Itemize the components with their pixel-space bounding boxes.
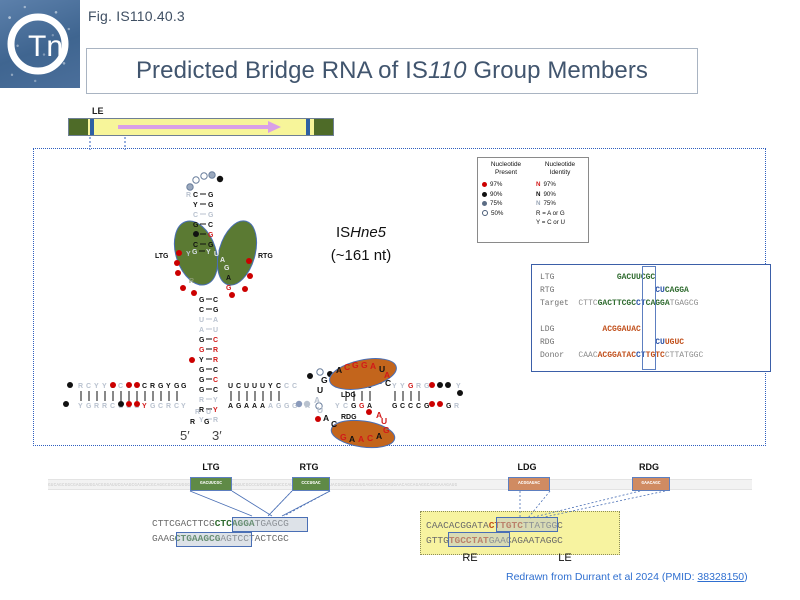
alignment-row-label [540, 312, 569, 321]
legend-identity-r-label: R = A or G [536, 210, 565, 217]
page-title-italic: 110 [428, 57, 467, 84]
legend-dot-50-icon [482, 210, 488, 216]
page-title-suffix: Group Members [467, 57, 648, 84]
alignment-seq-segment: CTTC [578, 299, 597, 308]
legend-identity-97-pct: 97% [543, 181, 555, 188]
alignment-seq-segment: TGTC [646, 351, 665, 360]
alignment-seq-segment: CT [636, 299, 646, 308]
legend-identity-75-pct: 75% [543, 200, 555, 207]
alignment-seq-segment: ACGGAUAC [602, 325, 640, 334]
duplex-seq-segment: GAAG [152, 533, 175, 544]
legend-identity-y-label: Y = C or U [536, 219, 565, 226]
alignment-box: LTG GACUUCGCRTG CUCAGGATarget CTTCGACTTC… [531, 264, 771, 372]
genome-site-label-ltg: LTG [180, 462, 242, 472]
legend-present-97-label: 97% [490, 181, 502, 188]
target-top-core-box [232, 517, 308, 532]
legend-present-90-label: 90% [490, 191, 502, 198]
legend-column-identity: Nucleotide Identity N97% N90% N75% R = A… [536, 161, 584, 228]
alignment-seq-segment: GACUUCGC [617, 273, 655, 282]
alignment-row-label: RDG [540, 338, 574, 347]
legend-present-header-1: Nucleotide [482, 161, 530, 169]
rna-element-name: ISHne5 (~161 nt) [296, 222, 426, 267]
alignment-seq-segment: CAGGA [665, 286, 689, 295]
alignment-row-ltg: LTG GACUUCGC [540, 271, 770, 284]
site-connectors [190, 491, 330, 516]
alignment-seq-segment: CTTATGGC [665, 351, 703, 360]
figure-label: Fig. IS110.40.3 [88, 8, 185, 24]
legend-identity-90-pct: 90% [543, 191, 555, 198]
alignment-row-label: Target [540, 299, 574, 308]
donor-re-label: RE [440, 552, 500, 564]
pmid-link[interactable]: 38328150 [697, 571, 744, 583]
legend-row-identity-75: N75% [536, 199, 584, 209]
alignment-seq-segment: CT [636, 351, 646, 360]
alignment-row-rdg: RDG CUUGUC [540, 336, 770, 349]
rna-length-label: (~161 nt) [296, 245, 426, 268]
legend-row-present-50: 50% [482, 209, 530, 219]
alignment-row-target: Target CTTCGACTTCGCCTCAGGATGAGCG [540, 297, 770, 310]
alignment-row-label: Donor [540, 351, 574, 360]
alignment-row-donor: Donor CAACACGGATACCTTGTCCTTATGGC [540, 349, 770, 362]
genome-site-label-rdg: RDG [620, 462, 678, 472]
donor-top-core-box [496, 517, 558, 532]
legend-present-50-label: 50% [491, 210, 503, 217]
legend-row-identity-r: R = A or G [536, 209, 584, 219]
legend-identity-97-letter: N [536, 181, 540, 188]
genome-site-rdg[interactable]: GAACAGC [632, 477, 670, 491]
alignment-seq-segment: CU [655, 338, 665, 347]
target-bottom-core-box [176, 532, 252, 547]
legend: Nucleotide Present 97% 90% 75% 50% Nucle… [477, 157, 589, 243]
legend-row-identity-90: N90% [536, 190, 584, 200]
page-title: Predicted Bridge RNA of IS110 Group Memb… [86, 48, 698, 94]
legend-dot-90-icon [482, 192, 487, 197]
legend-row-identity-y: Y = C or U [536, 218, 584, 228]
alignment-row-pad [574, 338, 656, 347]
alignment-seq-segment: CU [655, 286, 665, 295]
genome-site-ltg[interactable]: GACUUCGC [190, 477, 232, 491]
alignment-row-pad [574, 325, 603, 334]
genome-site-rtg[interactable]: CCCUGAC [292, 477, 330, 491]
legend-dot-75-icon [482, 201, 487, 206]
legend-identity-75-letter: N [536, 200, 540, 207]
duplex-seq-segment: CTTCGACTTCG [152, 518, 215, 529]
citation-footer: Redrawn from Durrant et al 2024 (PMID: 3… [506, 571, 748, 583]
alignment-seq-segment: CAGGA [646, 299, 670, 308]
alignment-row-ldg: LDG ACGGAUAC [540, 323, 770, 336]
duplex-seq-segment: CAACACGGATA [426, 520, 489, 531]
element-bar-orf-arrow [68, 118, 334, 136]
citation-text-end: ) [744, 571, 748, 583]
legend-row-present-97: 97% [482, 180, 530, 190]
alignment-row-label: RTG [540, 286, 574, 295]
rna-name-italic: Hne5 [350, 224, 386, 241]
alignment-row-spacer [540, 310, 770, 323]
legend-present-75-label: 75% [490, 200, 502, 207]
alignment-row-rtg: RTG CUCAGGA [540, 284, 770, 297]
element-bar-le-label: LE [92, 106, 104, 116]
ctn-logo-mark: Tn [0, 0, 80, 88]
genome-site-label-ldg: LDG [496, 462, 558, 472]
alignment-seq-segment: CAAC [578, 351, 597, 360]
alignment-seq-segment: ACGGATAC [598, 351, 636, 360]
genome-site-ldg[interactable]: ACGGAUAC [508, 477, 550, 491]
legend-row-present-90: 90% [482, 190, 530, 200]
legend-column-present: Nucleotide Present 97% 90% 75% 50% [482, 161, 530, 228]
alignment-row-label: LDG [540, 325, 574, 334]
svg-text:Tn: Tn [28, 30, 63, 63]
donor-bottom-core-box [448, 532, 510, 547]
genome-site-label-rtg: RTG [280, 462, 338, 472]
legend-identity-header-1: Nucleotide [536, 161, 584, 169]
legend-dot-97-icon [482, 182, 487, 187]
donor-le-label: LE [535, 552, 595, 564]
ctn-logo: Tn [0, 0, 80, 88]
legend-present-header-2: Present [482, 169, 530, 177]
rna-name-prefix: IS [336, 224, 350, 241]
alignment-seq-segment: GACTTCGC [598, 299, 636, 308]
duplex-seq-segment: GTTG [426, 535, 449, 546]
legend-row-identity-97: N97% [536, 180, 584, 190]
alignment-seq-segment: UGUC [665, 338, 684, 347]
alignment-row-label: LTG [540, 273, 574, 282]
alignment-row-pad [574, 286, 656, 295]
citation-text: Redrawn from Durrant et al 2024 (PMID: [506, 571, 697, 583]
legend-row-present-75: 75% [482, 199, 530, 209]
legend-identity-header-2: Identity [536, 169, 584, 177]
legend-identity-90-letter: N [536, 191, 540, 198]
alignment-seq-segment: TGAGCG [670, 299, 699, 308]
alignment-row-pad [574, 273, 617, 282]
page-title-prefix: Predicted Bridge RNA of IS [136, 57, 428, 84]
